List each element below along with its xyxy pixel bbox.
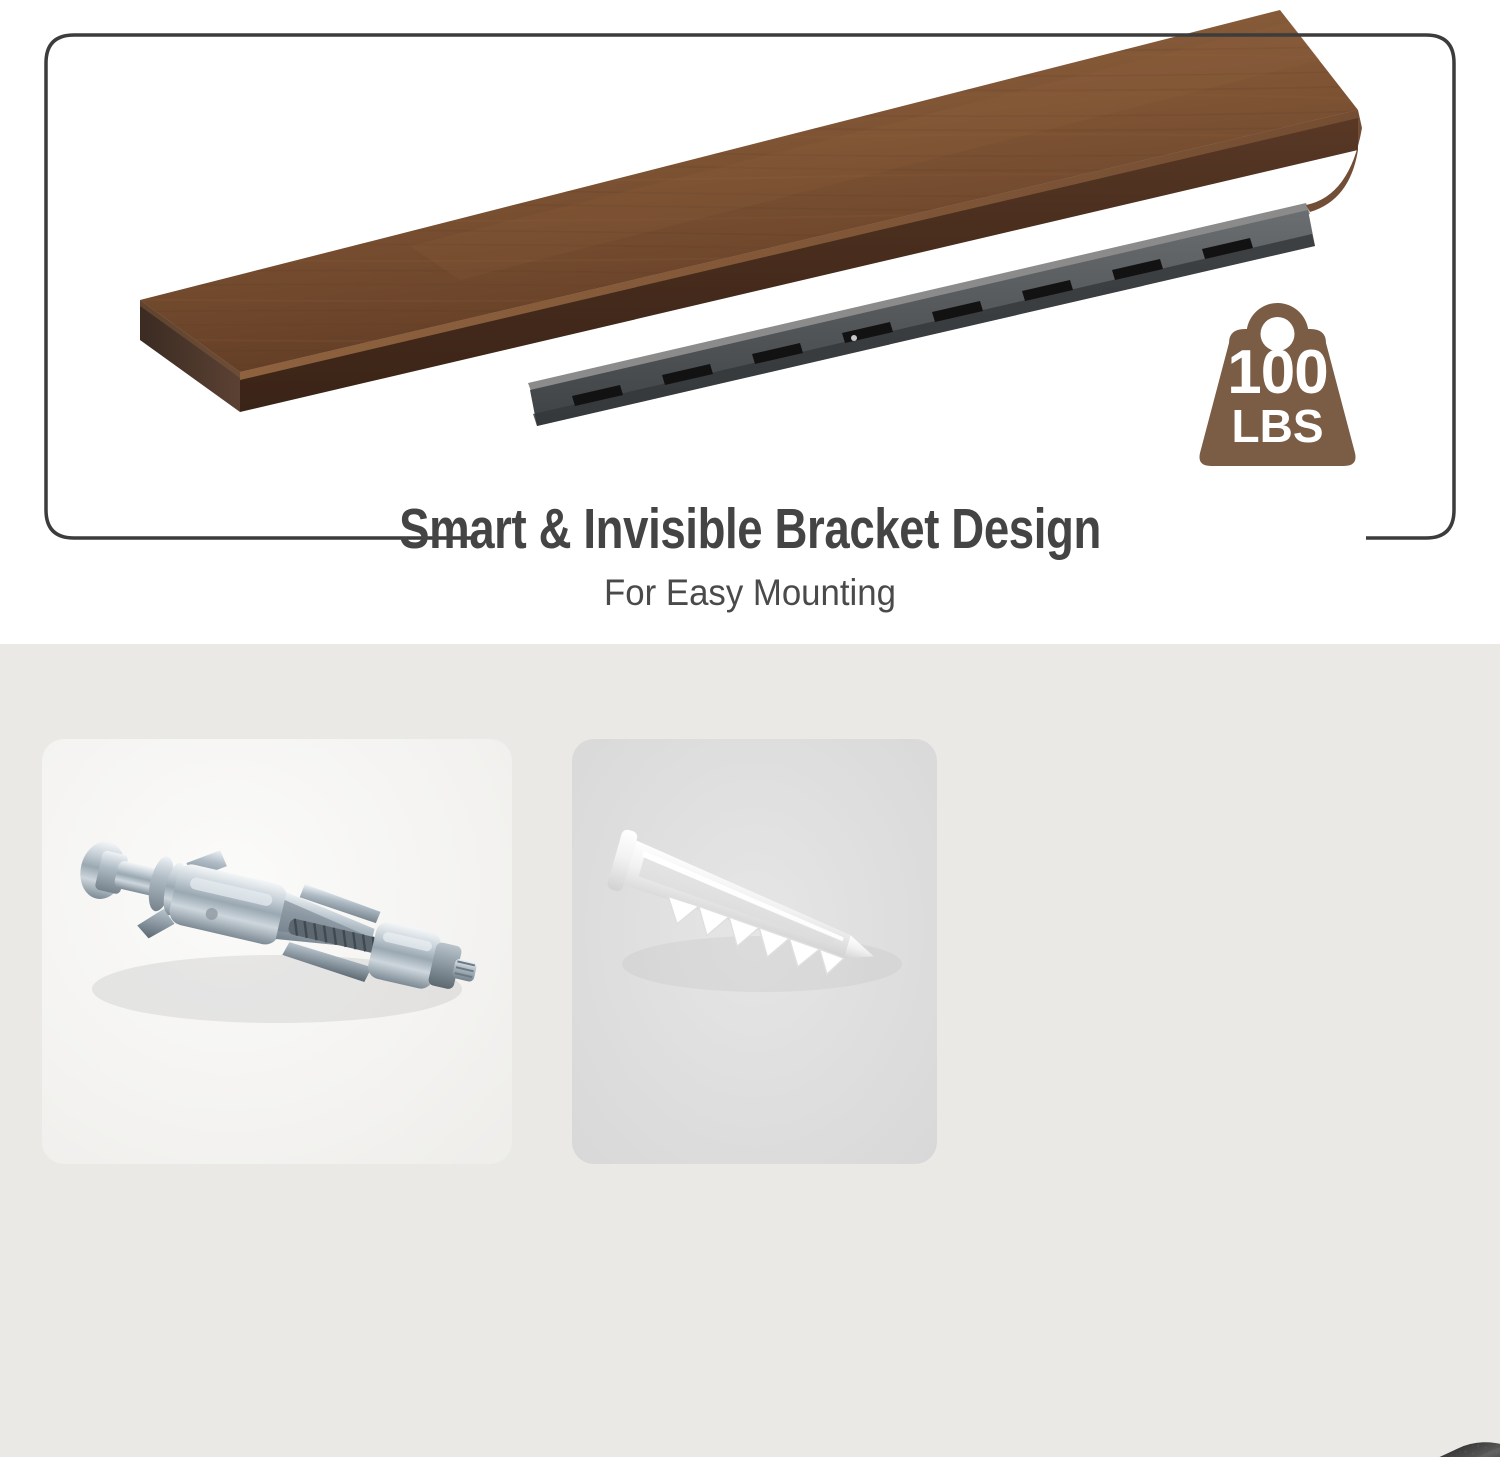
- weight-unit: LBS: [1185, 404, 1370, 449]
- plastic-anchor-photo-panel: [572, 739, 937, 1164]
- iron-rod-image: [860, 1344, 1500, 1457]
- bottom-section: Upgrade Metal Anchors heavy-duty: [0, 644, 1500, 1457]
- product-feature-image: 100 LBS Smart & Invisible Bracket Design…: [0, 0, 1500, 1457]
- top-section: 100 LBS Smart & Invisible Bracket Design…: [0, 0, 1500, 644]
- headline: Smart & Invisible Bracket Design: [150, 496, 1350, 562]
- weight-value: 100: [1185, 343, 1370, 404]
- metal-anchor-image: [42, 739, 512, 1164]
- plastic-anchor-image: [572, 739, 937, 1164]
- weight-badge-text: 100 LBS: [1185, 343, 1370, 449]
- subheadline: For Easy Mounting: [45, 572, 1455, 614]
- metal-anchor-photo-panel: [42, 739, 512, 1164]
- weight-capacity-badge: 100 LBS: [1185, 295, 1370, 470]
